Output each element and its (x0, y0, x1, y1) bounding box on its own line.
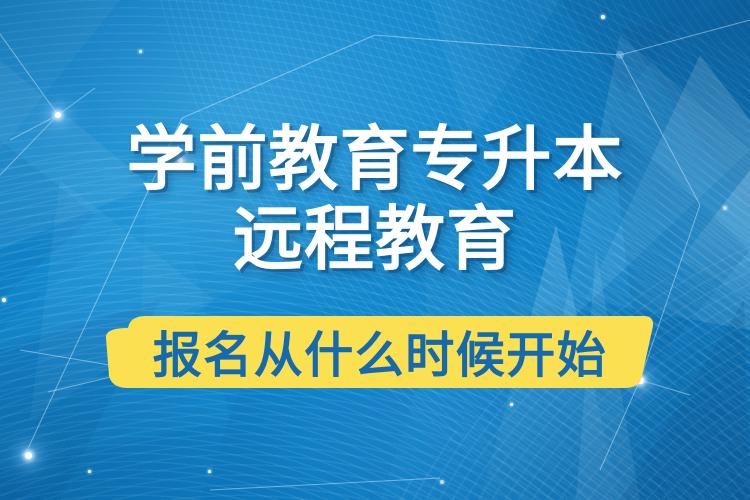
ribbon-label: 报名从什么时候开始 (106, 316, 654, 389)
ribbon-banner: 报名从什么时候开始 (106, 316, 654, 389)
banner-content: 学前教育专升本 远程教育 报名从什么时候开始 (0, 0, 750, 500)
headline-line-1: 学前教育专升本 (0, 124, 750, 194)
headline-line-2: 远程教育 (0, 204, 750, 274)
promo-banner: 学前教育专升本 远程教育 报名从什么时候开始 (0, 0, 750, 500)
headline: 学前教育专升本 远程教育 (0, 124, 750, 274)
